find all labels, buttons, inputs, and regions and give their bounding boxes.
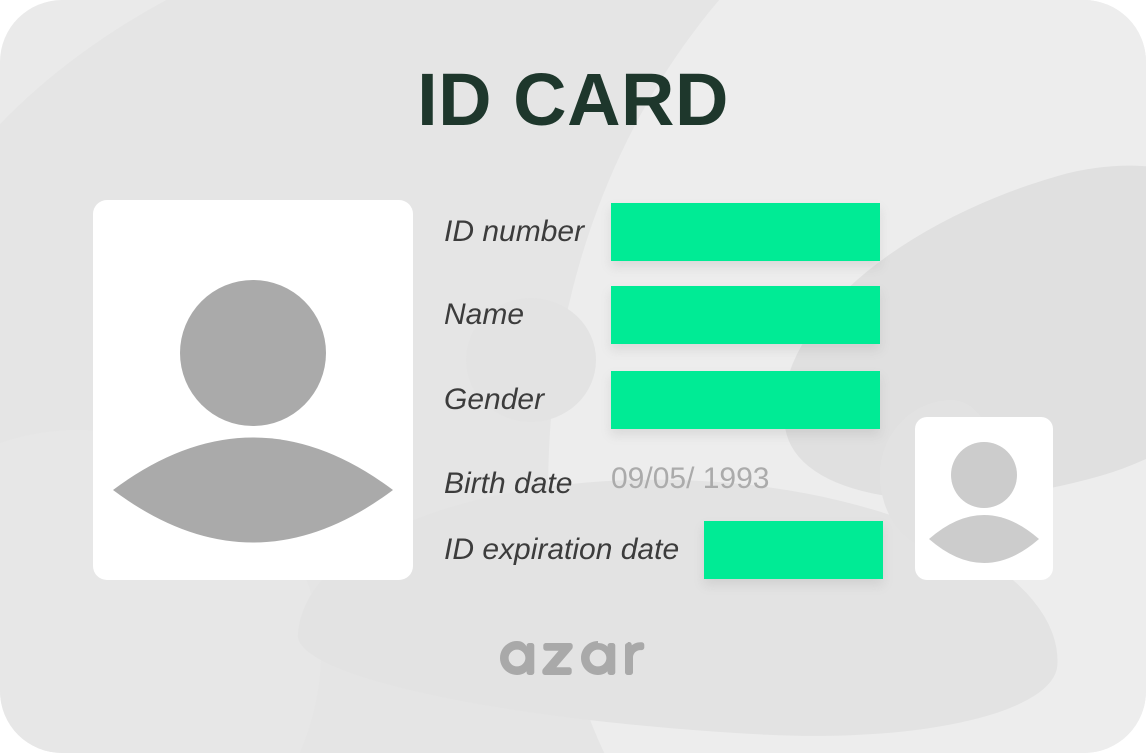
redaction-bar-gender [611, 371, 880, 429]
field-label-birth-date: Birth date [444, 469, 572, 499]
id-card: ID CARD ID number Name Gend [0, 0, 1146, 753]
redaction-bar-id-expiration-date [704, 521, 883, 579]
field-label-id-number: ID number [444, 217, 584, 247]
field-label-id-expiration-date: ID expiration date [444, 535, 679, 565]
person-avatar-small-icon [915, 417, 1053, 580]
brand-logo [0, 625, 1146, 687]
redaction-bar-id-number [611, 203, 880, 261]
field-label-name: Name [444, 300, 524, 330]
field-row-birth-date: Birth date [444, 455, 572, 513]
field-label-gender: Gender [444, 385, 544, 415]
field-value-birth-date: 09/05/ 1993 [611, 464, 769, 494]
field-row-id-number: ID number [444, 203, 584, 261]
person-avatar-icon [93, 200, 413, 580]
azar-logo-icon [493, 627, 653, 687]
card-title: ID CARD [0, 63, 1146, 137]
primary-photo-frame [93, 200, 413, 580]
field-row-id-expiration-date: ID expiration date [444, 521, 679, 579]
redaction-bar-name [611, 286, 880, 344]
field-row-name: Name [444, 286, 524, 344]
id-card-stage: ID CARD ID number Name Gend [0, 0, 1146, 753]
secondary-photo-frame [915, 417, 1053, 580]
field-row-gender: Gender [444, 371, 544, 429]
